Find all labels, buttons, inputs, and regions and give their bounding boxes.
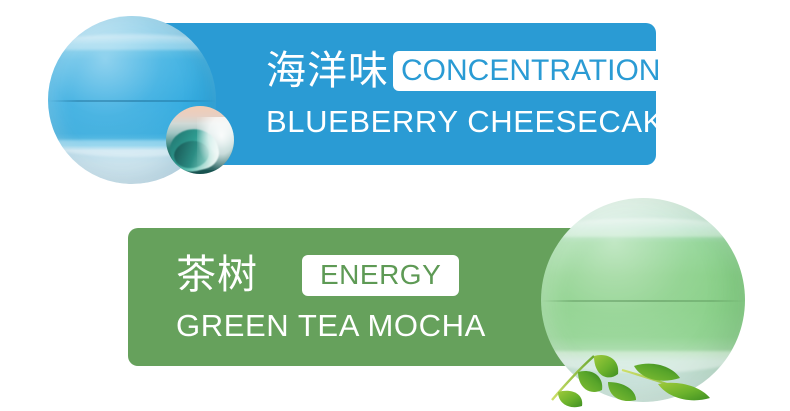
blue-bomb-seam-line xyxy=(48,100,216,102)
ocean-chinese-title: 海洋味 xyxy=(266,49,389,93)
badge-concentration[interactable]: CONCENTRATION xyxy=(393,51,668,91)
tea-title-row: 茶树 ENERGY xyxy=(176,248,486,302)
tea-leaf-3 xyxy=(558,391,582,407)
green-bomb-top-band xyxy=(541,218,745,236)
green-bomb-bottom-band xyxy=(541,351,745,373)
product-feature-banner-canvas: 海洋味 CONCENTRATION BLUEBERRY CHEESECAKE 茶… xyxy=(0,0,790,411)
blue-bomb-top-band xyxy=(48,34,216,49)
ocean-product-text-block: 海洋味 CONCENTRATION BLUEBERRY CHEESECAKE xyxy=(266,44,685,140)
ocean-english-subtitle: BLUEBERRY CHEESECAKE xyxy=(266,104,685,140)
badge-energy[interactable]: ENERGY xyxy=(302,255,459,296)
wave-foam-shape xyxy=(197,117,234,170)
tea-product-text-block: 茶树 ENERGY GREEN TEA MOCHA xyxy=(176,248,486,344)
tea-english-subtitle: GREEN TEA MOCHA xyxy=(176,308,486,344)
ocean-wave-inset-image xyxy=(166,106,234,174)
ocean-title-row: 海洋味 CONCENTRATION xyxy=(266,44,685,98)
tea-chinese-title: 茶树 xyxy=(176,253,258,297)
green-bath-bomb-image xyxy=(541,198,745,402)
green-bomb-seam-line xyxy=(541,300,745,302)
